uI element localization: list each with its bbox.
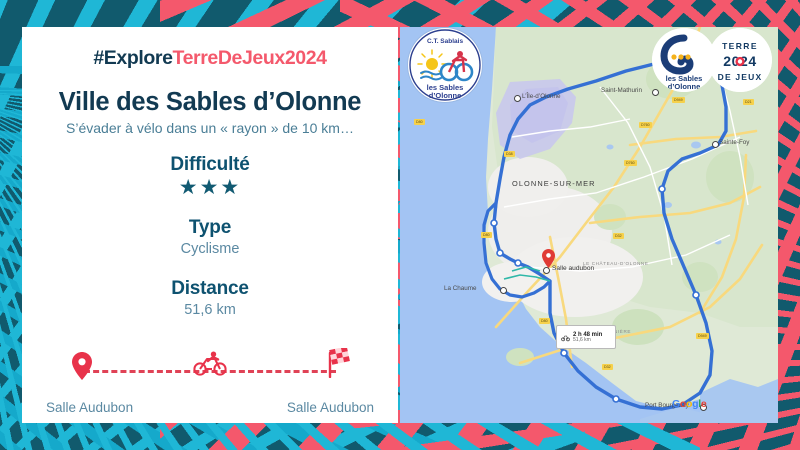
page-subtitle: S’évader à vélo dans un « rayon » de 10 …	[36, 121, 384, 136]
type-block: Type Cyclisme	[36, 218, 384, 260]
road-shield: D38	[504, 151, 515, 157]
type-label: Type	[36, 218, 384, 238]
checkered-flag-icon	[324, 348, 354, 383]
road-shield: D80	[414, 119, 425, 125]
distance-value: 51,6 km	[36, 301, 384, 321]
road-shield: D949	[696, 333, 709, 339]
hashtag: #ExploreTerreDeJeux2024	[36, 49, 384, 69]
map-dot-la-chaume	[500, 287, 507, 294]
road-shield: D80	[481, 232, 492, 238]
map-label-olonne-sur-mer: OLONNE-SUR-MER	[512, 179, 596, 188]
city-swirl-logo: les Sables d’Olonne	[652, 28, 716, 92]
map-label-ile-dolonne: L’Île-d’Olonne	[522, 93, 561, 100]
terre-de-jeux-logo: TERRE 2024 DE JEUX	[708, 28, 772, 92]
hashtag-explore: #Explore	[93, 47, 172, 69]
destination-pin-icon[interactable]	[542, 249, 555, 268]
map-dot-ile-dolonne	[514, 95, 521, 102]
road-shield: D32	[602, 364, 613, 370]
route-info-box[interactable]: 2 h 48 min 51,6 km	[556, 325, 616, 349]
map-label-saint-mathurin: Saint-Mathurin	[601, 87, 642, 94]
difficulty-block: Difficulté ★★★	[36, 155, 384, 199]
info-card: #ExploreTerreDeJeux2024 Ville des Sables…	[22, 27, 398, 423]
poster-root: #ExploreTerreDeJeux2024 Ville des Sables…	[0, 0, 800, 450]
city-logo-line2: d’Olonne	[668, 82, 701, 91]
club-logo-line1: C.T. Sablais	[427, 38, 464, 45]
road-shield: D949	[672, 97, 685, 103]
google-logo: Google	[672, 398, 706, 410]
map-label-sainte-foy: Sainte-Foy	[719, 139, 749, 146]
road-shield: D80	[539, 318, 550, 324]
hashtag-terredejeux: TerreDeJeux2024	[173, 47, 327, 69]
route-end-label: Salle Audubon	[287, 400, 374, 415]
cyclist-icon	[193, 350, 227, 381]
distance-label: Distance	[36, 279, 384, 299]
bicycle-icon	[561, 333, 570, 342]
route-start-label: Salle Audubon	[46, 400, 133, 415]
map-dot-saint-mathurin	[652, 89, 659, 96]
distance-block: Distance 51,6 km	[36, 279, 384, 321]
route-distance: 51,6 km	[573, 338, 602, 343]
terre-logo-line1: TERRE	[722, 41, 758, 51]
route-strip	[44, 346, 376, 386]
road-shield: D760	[639, 122, 652, 128]
club-logo-line3: d’Olonne	[429, 91, 462, 100]
terre-logo-line3: DE JEUX	[718, 72, 763, 82]
city-logo-badge: les Sables d’Olonne	[652, 28, 716, 92]
club-logo-badge: C.T. Sablais les Sables d’Olonne	[408, 28, 482, 102]
road-shield: D760	[624, 160, 637, 166]
cyclist-sun-sea-logo: C.T. Sablais les Sables d’Olonne	[408, 28, 482, 102]
road-shield: D21	[743, 99, 754, 105]
map-label-salle-audubon: Salle audubon	[552, 265, 594, 272]
map-label-la-chaume: La Chaume	[444, 285, 477, 292]
route-endpoint-labels: Salle Audubon Salle Audubon	[46, 400, 374, 415]
page-title: Ville des Sables d’Olonne	[36, 89, 384, 117]
map-dot-salle-audubon	[543, 267, 550, 274]
terre-de-jeux-badge: TERRE 2024 DE JEUX	[708, 28, 772, 92]
road-shield: D32	[613, 233, 624, 239]
difficulty-label: Difficulté	[36, 155, 384, 175]
type-value: Cyclisme	[36, 240, 384, 260]
map-pin-icon	[72, 352, 92, 385]
map-dot-sainte-foy	[712, 141, 719, 148]
difficulty-stars: ★★★	[36, 176, 384, 199]
